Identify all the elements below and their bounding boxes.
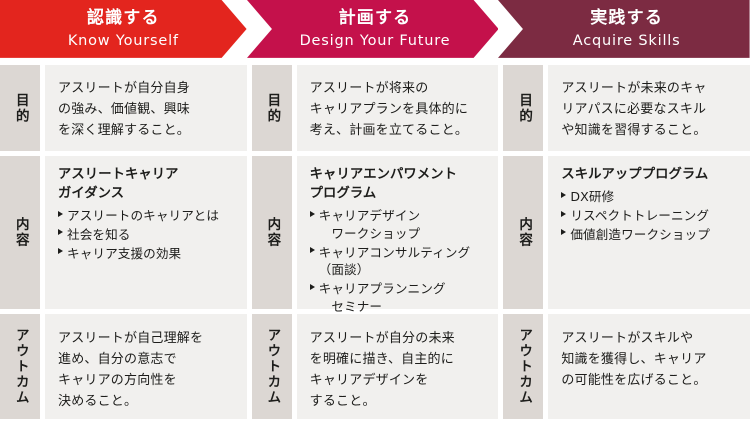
row-label-content: 内容 (503, 156, 543, 309)
list-item: DX研修 (561, 188, 740, 206)
header-title-en: Know Yourself (68, 34, 179, 49)
row-outcome: アウトカム アスリートが自分の未来 を明確に描き、自主的に キャリアデザインを … (252, 314, 499, 419)
program-title: アスリートキャリア ガイダンス (58, 166, 237, 204)
program-item-list: アスリートのキャリアとは 社会を知る キャリア支援の効果 (58, 207, 237, 263)
header-title-en: Design Your Future (300, 34, 451, 49)
row-label-outcome: アウトカム (0, 314, 40, 419)
row-label-text: 目的 (13, 93, 27, 124)
list-item: キャリアプランニング セミナー (310, 280, 489, 316)
header-title-ja: 計画する (300, 10, 451, 27)
triangle-bullet-icon (58, 211, 63, 217)
row-content: 内容 キャリアエンパワメント プログラム キャリアデザイン ワークショップ キャ… (252, 156, 499, 309)
row-label-content: 内容 (0, 156, 40, 309)
row-body-outcome: アスリートがスキルや 知識を獲得し、キャリア の可能性を広げること。 (548, 314, 750, 419)
row-label-text: 目的 (517, 93, 531, 124)
list-item-label: リスペクトトレーニング (570, 208, 709, 223)
program-item-list: DX研修 リスペクトトレーニング 価値創造ワークショップ (561, 188, 740, 244)
row-body-purpose: アスリートが自分自身 の強み、価値観、興味 を深く理解すること。 (45, 65, 247, 151)
list-item: キャリアデザイン ワークショップ (310, 207, 489, 243)
triangle-bullet-icon (561, 229, 566, 235)
row-label-text: アウトカム (13, 328, 27, 406)
row-label-text: 目的 (265, 93, 279, 124)
list-item-label: 価値創造ワークショップ (570, 227, 710, 242)
outcome-text: アスリートが自己理解を 進め、自分の意志で キャリアの方向性を 決めること。 (58, 328, 237, 412)
row-label-content: 内容 (252, 156, 292, 309)
purpose-text: アスリートが未来のキャ リアパスに必要なスキル や知識を習得すること。 (561, 78, 740, 141)
list-item-label: キャリア支援の効果 (67, 246, 181, 261)
triangle-bullet-icon (561, 211, 566, 217)
list-item: アスリートのキャリアとは (58, 207, 237, 225)
row-label-text: 内容 (517, 217, 531, 248)
triangle-bullet-icon (310, 247, 315, 253)
row-purpose: 目的 アスリートが未来のキャ リアパスに必要なスキル や知識を習得すること。 (503, 65, 750, 151)
program-title: スキルアッププログラム (561, 166, 740, 185)
list-item-label: アスリートのキャリアとは (67, 208, 219, 223)
purpose-text: アスリートが自分自身 の強み、価値観、興味 を深く理解すること。 (58, 78, 237, 141)
career-program-board: 認識する Know Yourself 目的 アスリートが自分自身 の強み、価値観… (0, 0, 750, 431)
row-label-text: アウトカム (265, 328, 279, 406)
row-label-purpose: 目的 (0, 65, 40, 151)
column-header-acquire-skills[interactable]: 実践する Acquire Skills (503, 0, 750, 58)
row-label-outcome: アウトカム (503, 314, 543, 419)
list-item: リスペクトトレーニング (561, 207, 740, 225)
row-label-text: 内容 (265, 217, 279, 248)
header-title-en: Acquire Skills (573, 34, 681, 49)
row-body-content: キャリアエンパワメント プログラム キャリアデザイン ワークショップ キャリアコ… (297, 156, 499, 309)
triangle-bullet-icon (310, 284, 315, 290)
row-purpose: 目的 アスリートが自分自身 の強み、価値観、興味 を深く理解すること。 (0, 65, 247, 151)
outcome-text: アスリートが自分の未来 を明確に描き、自主的に キャリアデザインを すること。 (310, 328, 489, 412)
triangle-bullet-icon (310, 211, 315, 217)
column-know-yourself: 認識する Know Yourself 目的 アスリートが自分自身 の強み、価値観… (0, 0, 247, 431)
row-body-purpose: アスリートが将来の キャリアプランを具体的に 考え、計画を立てること。 (297, 65, 499, 151)
list-item-label: キャリアデザイン ワークショップ (319, 208, 421, 241)
row-label-text: アウトカム (517, 328, 531, 406)
row-label-outcome: アウトカム (252, 314, 292, 419)
row-outcome: アウトカム アスリートが自己理解を 進め、自分の意志で キャリアの方向性を 決め… (0, 314, 247, 419)
row-outcome: アウトカム アスリートがスキルや 知識を獲得し、キャリア の可能性を広げること。 (503, 314, 750, 419)
row-body-content: アスリートキャリア ガイダンス アスリートのキャリアとは 社会を知る キャリア支… (45, 156, 247, 309)
list-item: キャリアコンサルティング （面談） (310, 244, 489, 280)
program-item-list: キャリアデザイン ワークショップ キャリアコンサルティング （面談） キャリアプ… (310, 207, 489, 316)
outcome-text: アスリートがスキルや 知識を獲得し、キャリア の可能性を広げること。 (561, 328, 740, 391)
list-item-label: キャリアプランニング セミナー (319, 281, 446, 314)
column-header-know-yourself[interactable]: 認識する Know Yourself (0, 0, 247, 58)
row-content: 内容 アスリートキャリア ガイダンス アスリートのキャリアとは 社会を知る キャ… (0, 156, 247, 309)
rows-design-your-future: 目的 アスリートが将来の キャリアプランを具体的に 考え、計画を立てること。 内… (252, 58, 499, 431)
row-label-purpose: 目的 (252, 65, 292, 151)
triangle-bullet-icon (561, 192, 566, 198)
row-body-outcome: アスリートが自分の未来 を明確に描き、自主的に キャリアデザインを すること。 (297, 314, 499, 419)
row-label-purpose: 目的 (503, 65, 543, 151)
program-title: キャリアエンパワメント プログラム (310, 166, 489, 204)
purpose-text: アスリートが将来の キャリアプランを具体的に 考え、計画を立てること。 (310, 78, 489, 141)
triangle-bullet-icon (58, 229, 63, 235)
list-item: キャリア支援の効果 (58, 245, 237, 263)
rows-know-yourself: 目的 アスリートが自分自身 の強み、価値観、興味 を深く理解すること。 内容 ア… (0, 58, 247, 431)
list-item: 価値創造ワークショップ (561, 226, 740, 244)
column-design-your-future: 計画する Design Your Future 目的 アスリートが将来の キャリ… (252, 0, 499, 431)
header-title-ja: 実践する (573, 10, 681, 27)
row-body-content: スキルアッププログラム DX研修 リスペクトトレーニング 価値創造ワークショップ (548, 156, 750, 309)
header-title-ja: 認識する (68, 10, 179, 27)
list-item-label: キャリアコンサルティング （面談） (319, 245, 471, 278)
row-body-outcome: アスリートが自己理解を 進め、自分の意志で キャリアの方向性を 決めること。 (45, 314, 247, 419)
row-label-text: 内容 (13, 217, 27, 248)
list-item: 社会を知る (58, 226, 237, 244)
row-body-purpose: アスリートが未来のキャ リアパスに必要なスキル や知識を習得すること。 (548, 65, 750, 151)
column-header-design-your-future[interactable]: 計画する Design Your Future (252, 0, 499, 58)
list-item-label: DX研修 (570, 189, 614, 204)
rows-acquire-skills: 目的 アスリートが未来のキャ リアパスに必要なスキル や知識を習得すること。 内… (503, 58, 750, 431)
column-acquire-skills: 実践する Acquire Skills 目的 アスリートが未来のキャ リアパスに… (503, 0, 750, 431)
list-item-label: 社会を知る (67, 227, 130, 242)
triangle-bullet-icon (58, 248, 63, 254)
row-purpose: 目的 アスリートが将来の キャリアプランを具体的に 考え、計画を立てること。 (252, 65, 499, 151)
row-content: 内容 スキルアッププログラム DX研修 リスペクトトレーニング 価値創造ワークシ… (503, 156, 750, 309)
